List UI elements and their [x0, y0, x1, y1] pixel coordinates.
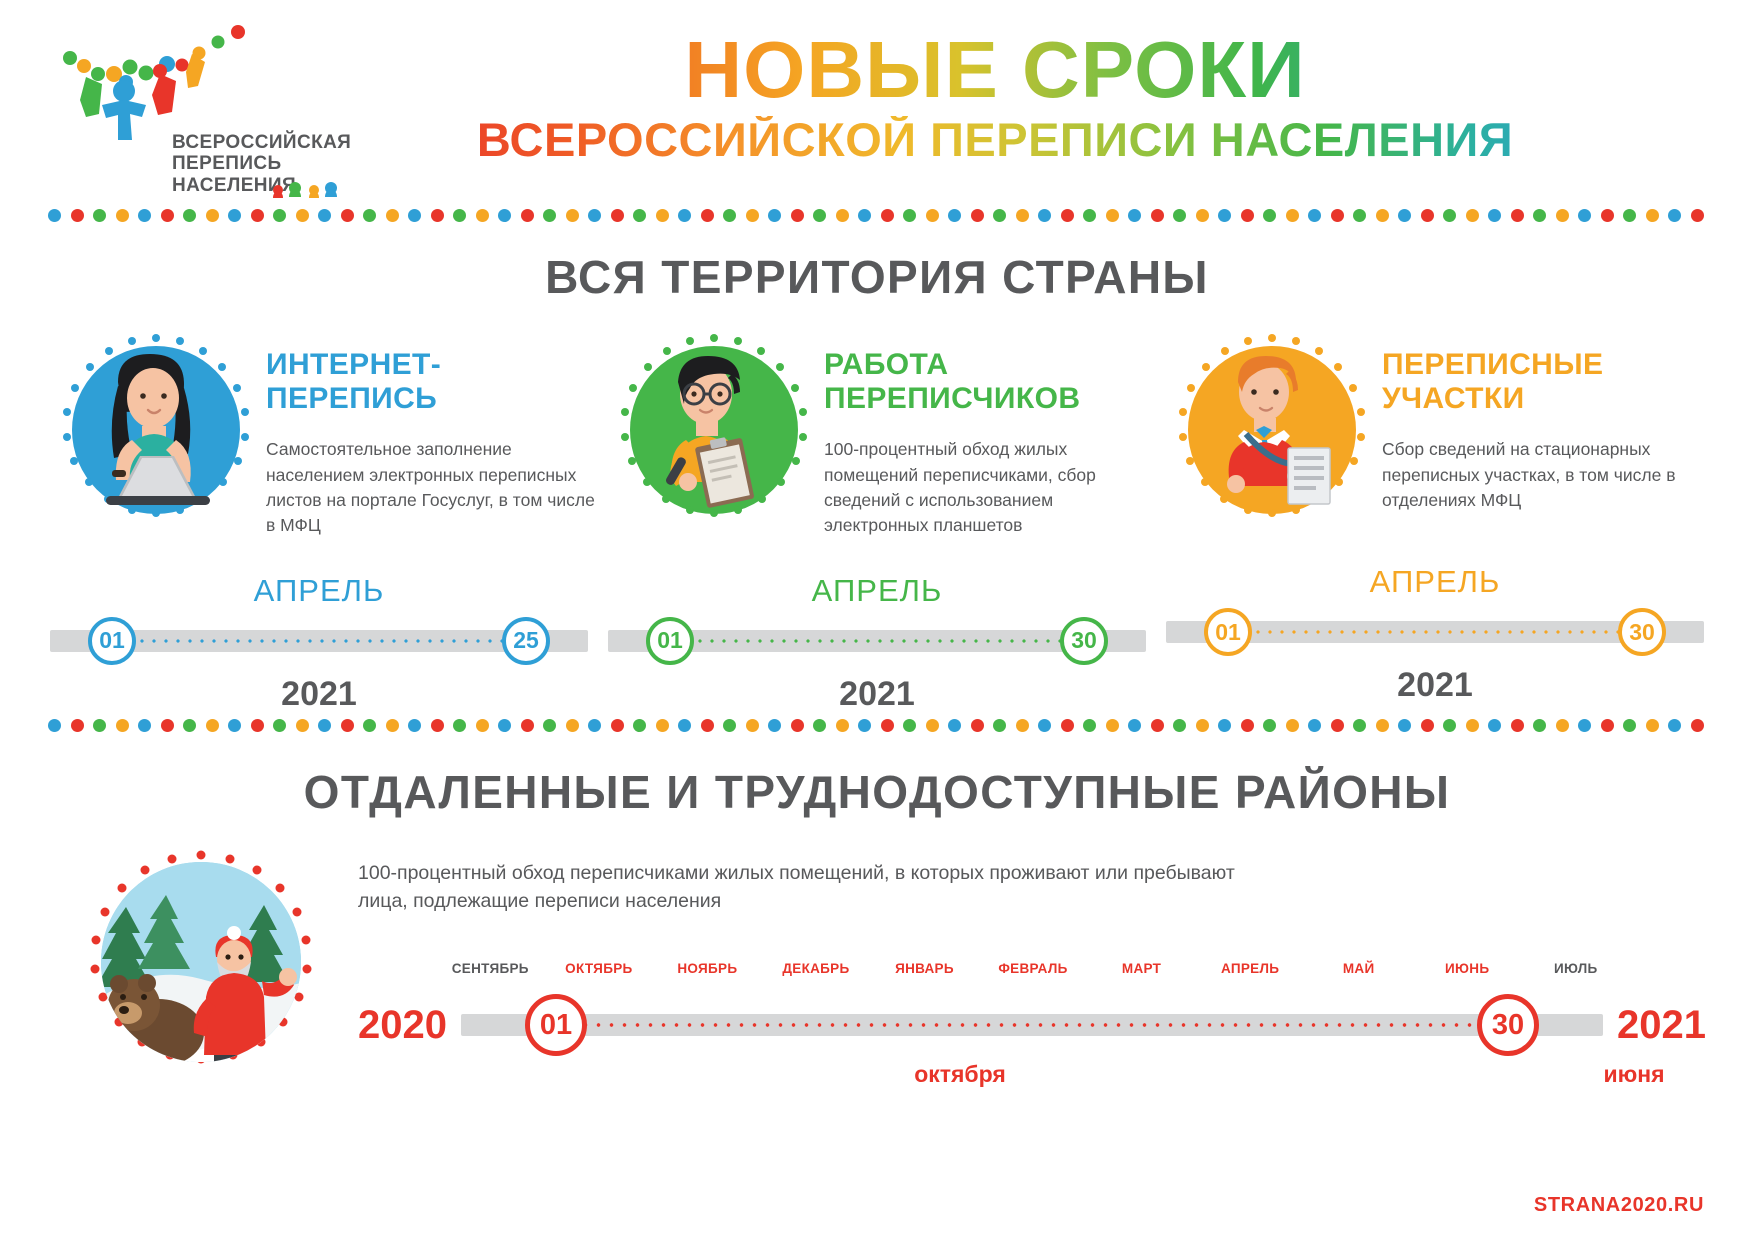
divider-dot	[746, 719, 759, 732]
page-header: ВСЕРОССИЙСКАЯ ПЕРЕПИСЬ НАСЕЛЕНИЯ НОВЫЕ С…	[0, 0, 1754, 208]
divider-dot	[656, 719, 669, 732]
divider-dot	[1578, 719, 1591, 732]
divider-dot	[498, 719, 511, 732]
website-url[interactable]: STRANA2020.RU	[1534, 1194, 1704, 1217]
divider-dot	[1083, 719, 1096, 732]
section-1-columns: ИНТЕРНЕТ-ПЕРЕПИСЬ Самостоятельное заполн…	[0, 330, 1754, 705]
timeline-end-node-internet: 25	[502, 617, 550, 665]
divider-dot	[1196, 719, 1209, 732]
divider-dot	[1218, 719, 1231, 732]
divider-dot	[206, 719, 219, 732]
timeline-start-node-internet: 01	[88, 617, 136, 665]
timeline-start-node-remote: 01	[525, 994, 587, 1056]
divider-dot	[1083, 209, 1096, 222]
divider-dot	[1466, 209, 1479, 222]
divider-dot	[318, 719, 331, 732]
logo-year-2020-icon	[270, 182, 340, 212]
divider-dot	[1286, 719, 1299, 732]
timeline-year-enumerators: 2021	[598, 675, 1156, 714]
divider-dot	[566, 719, 579, 732]
divider-dot	[1151, 719, 1164, 732]
divider-dot	[71, 719, 84, 732]
column-internet-census: ИНТЕРНЕТ-ПЕРЕПИСЬ Самостоятельное заполн…	[40, 330, 598, 705]
timeline-year-internet: 2021	[40, 675, 598, 714]
divider-dot	[903, 719, 916, 732]
divider-dot	[1218, 209, 1231, 222]
divider-dot	[1151, 209, 1164, 222]
divider-dot	[1488, 719, 1501, 732]
column-heading-enumerators: РАБОТАПЕРЕПИСЧИКОВ	[824, 348, 1156, 415]
divider-dot	[836, 209, 849, 222]
timeline-month-label: ИЮЛЬ	[1521, 961, 1630, 985]
column-body-internet: Самостоятельное заполнение населением эл…	[266, 437, 598, 539]
divider-dot	[1421, 719, 1434, 732]
divider-dot	[948, 209, 961, 222]
divider-dot	[1308, 209, 1321, 222]
divider-dot	[228, 209, 241, 222]
divider-dot	[1308, 719, 1321, 732]
timeline-end-node-enumerators: 30	[1060, 617, 1108, 665]
divider-dot	[813, 719, 826, 732]
divider-dot	[1376, 719, 1389, 732]
timeline-month-label: ДЕКАБРЬ	[762, 961, 871, 985]
divider-dot	[71, 209, 84, 222]
timeline-month-label: ФЕВРАЛЬ	[979, 961, 1088, 985]
divider-dot	[476, 209, 489, 222]
divider-dot	[1488, 209, 1501, 222]
column-enumerators: РАБОТАПЕРЕПИСЧИКОВ 100-процентный обход …	[598, 330, 1156, 705]
column-census-stations: ПЕРЕПИСНЫЕУЧАСТКИ Сбор сведений на стаци…	[1156, 330, 1714, 705]
timeline-stations: АПРЕЛЬ 01 30 2021	[1156, 564, 1714, 696]
divider-dot	[1691, 719, 1704, 732]
timeline-month-enumerators: АПРЕЛЬ	[598, 573, 1156, 609]
page-subtitle: ВСЕРОССИЙСКОЙ ПЕРЕПИСИ НАСЕЛЕНИЯ	[400, 116, 1590, 163]
divider-dot	[453, 719, 466, 732]
divider-dot	[116, 209, 129, 222]
section-2-right: 100-процентный обход переписчиками жилых…	[348, 837, 1706, 1082]
divider-dot	[1623, 209, 1636, 222]
divider-dot	[1241, 209, 1254, 222]
divider-dot	[566, 209, 579, 222]
divider-dot	[1646, 209, 1659, 222]
divider-dot	[1286, 209, 1299, 222]
woman-with-laptop-illustration	[56, 330, 256, 530]
timeline-start-node-enumerators: 01	[646, 617, 694, 665]
divider-dot	[1511, 209, 1524, 222]
divider-dot	[341, 209, 354, 222]
timeline-month-label: ОКТЯБРЬ	[545, 961, 654, 985]
divider-dot	[48, 719, 61, 732]
divider-dot	[993, 719, 1006, 732]
man-with-clipboard-illustration	[614, 330, 814, 530]
divider-dot	[453, 209, 466, 222]
timeline-end-node-remote: 30	[1477, 994, 1539, 1056]
divider-dot	[138, 209, 151, 222]
divider-dot	[701, 209, 714, 222]
divider-dot	[408, 719, 421, 732]
divider-dot	[948, 719, 961, 732]
divider-dot	[1601, 719, 1614, 732]
divider-dot	[1556, 719, 1569, 732]
divider-dot	[431, 209, 444, 222]
divider-dot	[408, 209, 421, 222]
timeline-start-caption: октября	[880, 1061, 1040, 1088]
divider-dot	[993, 209, 1006, 222]
divider-dot	[1038, 209, 1051, 222]
divider-dot	[926, 719, 939, 732]
divider-dot	[1061, 209, 1074, 222]
timeline-month-stations: АПРЕЛЬ	[1156, 564, 1714, 600]
timeline-month-label: МАРТ	[1087, 961, 1196, 985]
divider-dot	[813, 209, 826, 222]
timeline-enumerators: АПРЕЛЬ 01 30 2021	[598, 573, 1156, 705]
divider-dot	[1556, 209, 1569, 222]
divider-dot	[1601, 209, 1614, 222]
divider-dot	[48, 209, 61, 222]
divider-dot	[1511, 719, 1524, 732]
divider-dot	[1263, 719, 1276, 732]
divider-dot	[1016, 719, 1029, 732]
divider-dot	[116, 719, 129, 732]
man-with-document-illustration	[1172, 330, 1372, 530]
divider-dot	[768, 719, 781, 732]
divider-dot	[1398, 719, 1411, 732]
timeline-start-node-stations: 01	[1204, 608, 1252, 656]
divider-dot	[633, 209, 646, 222]
divider-dot	[858, 209, 871, 222]
column-body-stations: Сбор сведений на стационарных переписных…	[1382, 437, 1714, 513]
divider-dot	[881, 719, 894, 732]
divider-dot	[1173, 209, 1186, 222]
divider-dot	[1353, 719, 1366, 732]
divider-dot	[1443, 209, 1456, 222]
divider-dot	[386, 719, 399, 732]
divider-dot	[1331, 719, 1344, 732]
divider-dot	[1668, 209, 1681, 222]
divider-dot	[723, 719, 736, 732]
timeline-month-labels: СЕНТЯБРЬОКТЯБРЬНОЯБРЬДЕКАБРЬЯНВАРЬФЕВРАЛ…	[436, 961, 1630, 985]
divider-dot	[363, 209, 376, 222]
divider-dot	[1466, 719, 1479, 732]
divider-dot	[543, 719, 556, 732]
page-title: НОВЫЕ СРОКИ	[400, 30, 1590, 110]
divider-dot	[363, 719, 376, 732]
divider-dot	[1421, 209, 1434, 222]
divider-dot	[1353, 209, 1366, 222]
divider-dot	[1196, 209, 1209, 222]
column-heading-stations: ПЕРЕПИСНЫЕУЧАСТКИ	[1382, 348, 1714, 415]
timeline-end-caption: июня	[1554, 1061, 1714, 1088]
logo-line-1: ВСЕРОССИЙСКАЯ	[172, 132, 351, 153]
divider-dot	[161, 209, 174, 222]
divider-dot	[768, 209, 781, 222]
divider-dot	[183, 719, 196, 732]
column-heading-internet: ИНТЕРНЕТ-ПЕРЕПИСЬ	[266, 348, 598, 415]
divider-dot	[1646, 719, 1659, 732]
divider-dot	[1016, 209, 1029, 222]
divider-dot	[183, 209, 196, 222]
divider-dot	[228, 719, 241, 732]
divider-dot	[1331, 209, 1344, 222]
divider-dot	[1443, 719, 1456, 732]
divider-dot	[93, 719, 106, 732]
divider-dot	[1106, 209, 1119, 222]
divider-dot	[543, 209, 556, 222]
divider-dot	[791, 209, 804, 222]
divider-dot	[971, 719, 984, 732]
column-body-enumerators: 100-процентный обход жилых помещений пер…	[824, 437, 1156, 539]
divider-dot	[296, 719, 309, 732]
divider-dot	[138, 719, 151, 732]
divider-dot	[678, 209, 691, 222]
divider-dot	[1376, 209, 1389, 222]
logo-line-2: ПЕРЕПИСЬ	[172, 153, 351, 174]
divider-dot	[341, 719, 354, 732]
divider-dot	[1691, 209, 1704, 222]
divider-dot	[701, 719, 714, 732]
section-1-title: ВСЯ ТЕРРИТОРИЯ СТРАНЫ	[0, 250, 1754, 304]
timeline-year-start: 2020	[358, 1003, 447, 1048]
divider-dot	[1623, 719, 1636, 732]
divider-dot	[1398, 209, 1411, 222]
divider-dot	[251, 719, 264, 732]
divider-dot	[1668, 719, 1681, 732]
divider-dot	[611, 209, 624, 222]
timeline-internet: АПРЕЛЬ 01 25 2021	[40, 573, 598, 705]
section-2-title: ОТДАЛЕННЫЕ И ТРУДНОДОСТУПНЫЕ РАЙОНЫ	[0, 765, 1754, 819]
divider-dot	[1128, 209, 1141, 222]
divider-dot	[1128, 719, 1141, 732]
divider-dot	[206, 209, 219, 222]
divider-dot	[273, 719, 286, 732]
census-logo: ВСЕРОССИЙСКАЯ ПЕРЕПИСЬ НАСЕЛЕНИЯ	[42, 22, 362, 202]
divider-dot	[971, 209, 984, 222]
divider-dot	[858, 719, 871, 732]
timeline-dashes-enumerators	[658, 639, 1096, 643]
divider-dot	[251, 209, 264, 222]
timeline-dashes-internet	[100, 639, 538, 643]
remote-areas-illustration	[48, 837, 348, 1082]
timeline-remote-areas: СЕНТЯБРЬОКТЯБРЬНОЯБРЬДЕКАБРЬЯНВАРЬФЕВРАЛ…	[358, 961, 1706, 1081]
divider-dot	[476, 719, 489, 732]
divider-dot	[1061, 719, 1074, 732]
timeline-month-internet: АПРЕЛЬ	[40, 573, 598, 609]
divider-dot	[903, 209, 916, 222]
timeline-month-label: СЕНТЯБРЬ	[436, 961, 545, 985]
divider-dot	[656, 209, 669, 222]
timeline-year-end: 2021	[1617, 1003, 1706, 1048]
divider-dot	[161, 719, 174, 732]
timeline-year-stations: 2021	[1156, 666, 1714, 705]
divider-dot	[1173, 719, 1186, 732]
divider-dot	[1533, 719, 1546, 732]
divider-dot	[431, 719, 444, 732]
divider-dot	[723, 209, 736, 222]
timeline-month-label: ИЮНЬ	[1413, 961, 1522, 985]
divider-dot	[1106, 719, 1119, 732]
section-2-content: 100-процентный обход переписчиками жилых…	[0, 837, 1754, 1082]
divider-dot	[588, 719, 601, 732]
divider-dot	[881, 209, 894, 222]
divider-dot	[588, 209, 601, 222]
dot-divider-middle	[48, 719, 1706, 733]
divider-dot	[498, 209, 511, 222]
divider-dot	[521, 209, 534, 222]
timeline-end-node-stations: 30	[1618, 608, 1666, 656]
divider-dot	[1533, 209, 1546, 222]
title-block: НОВЫЕ СРОКИ ВСЕРОССИЙСКОЙ ПЕРЕПИСИ НАСЕЛ…	[400, 30, 1590, 163]
divider-dot	[1263, 209, 1276, 222]
divider-dot	[926, 209, 939, 222]
divider-dot	[611, 719, 624, 732]
divider-dot	[386, 209, 399, 222]
divider-dot	[836, 719, 849, 732]
timeline-month-label: МАЙ	[1304, 961, 1413, 985]
divider-dot	[746, 209, 759, 222]
divider-dot	[791, 719, 804, 732]
timeline-dashes-remote	[553, 1023, 1511, 1027]
divider-dot	[1038, 719, 1051, 732]
section-2-description: 100-процентный обход переписчиками жилых…	[358, 859, 1288, 916]
divider-dot	[93, 209, 106, 222]
divider-dot	[678, 719, 691, 732]
timeline-month-label: АПРЕЛЬ	[1196, 961, 1305, 985]
timeline-month-label: НОЯБРЬ	[653, 961, 762, 985]
divider-dot	[1241, 719, 1254, 732]
divider-dot	[633, 719, 646, 732]
divider-dot	[521, 719, 534, 732]
divider-dot	[1578, 209, 1591, 222]
timeline-dashes-stations	[1216, 630, 1654, 634]
timeline-month-label: ЯНВАРЬ	[870, 961, 979, 985]
